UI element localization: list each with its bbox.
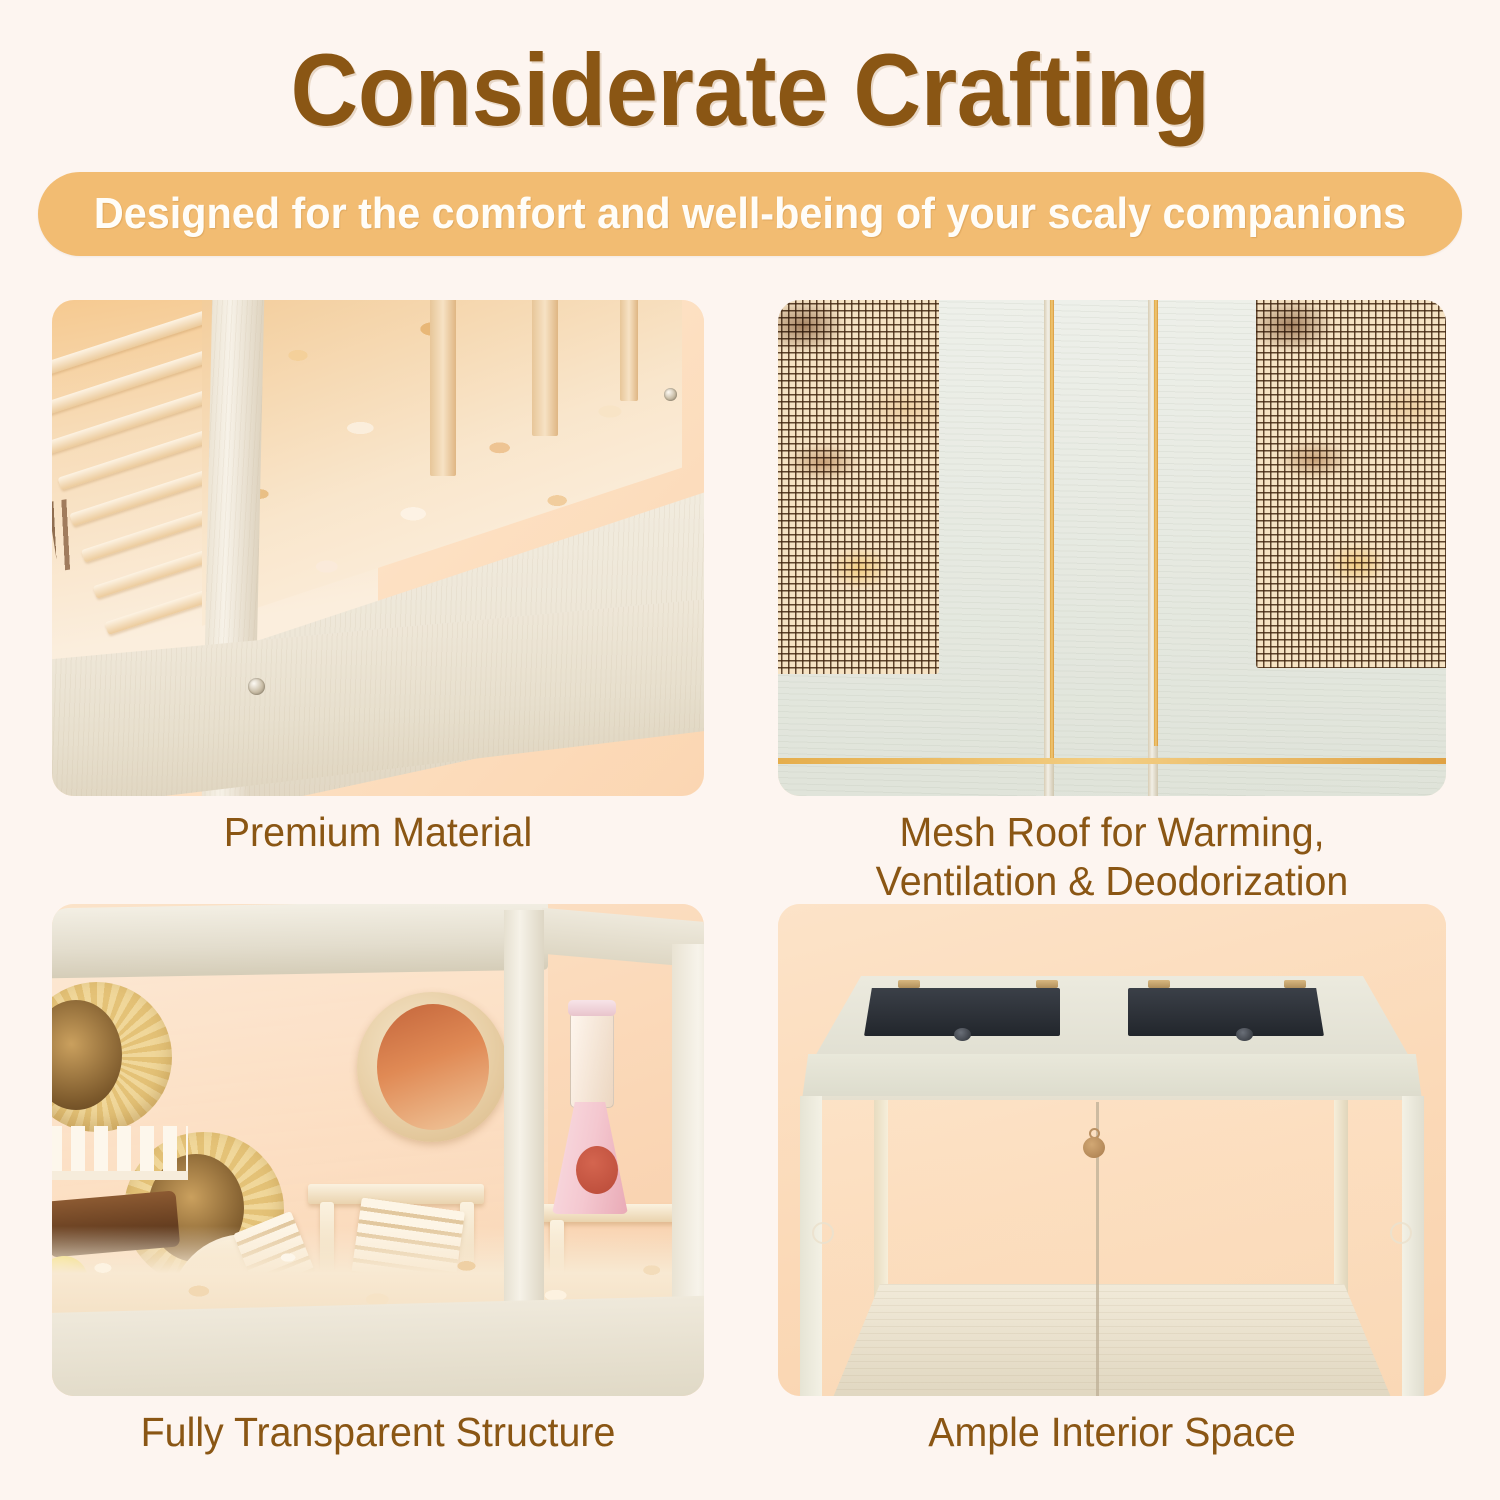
subtitle-banner: Designed for the comfort and well-being … <box>38 172 1462 256</box>
ventilation-hole-icon <box>1390 1222 1412 1244</box>
roof-hinge <box>1036 980 1058 988</box>
roof-latch-knob <box>954 1028 971 1041</box>
gold-edge-strip <box>1050 300 1054 758</box>
elevated-platform-center <box>308 1184 484 1204</box>
water-bottle-cap <box>568 1000 616 1016</box>
latch-pad <box>1083 1137 1105 1158</box>
water-bottle-tube <box>570 1012 614 1108</box>
photo-premium-material <box>52 300 704 796</box>
wood-grain-texture <box>822 1284 1402 1396</box>
photo-transparent-structure <box>52 904 704 1396</box>
feature-card-mesh-roof <box>778 300 1446 796</box>
caption-premium-material: Premium Material <box>65 808 691 857</box>
interior-floor-board <box>822 1284 1402 1396</box>
mesh-screen-panel-left <box>778 300 939 674</box>
wheel-inner-surface <box>377 1004 489 1130</box>
water-bottle-accent <box>576 1146 618 1194</box>
gold-bottom-strip <box>778 758 1446 764</box>
corner-post <box>504 910 544 1350</box>
right-side-post <box>1402 1096 1424 1396</box>
mesh-screen-panel-right <box>1256 300 1446 668</box>
screw-icon <box>248 678 265 695</box>
photo-ample-interior-space <box>778 904 1446 1396</box>
top-frame-rail <box>52 904 548 978</box>
caption-line-1: Mesh Roof for Warming, <box>782 808 1442 857</box>
door-latch-icon <box>1082 1128 1106 1158</box>
roof-hinge <box>1148 980 1170 988</box>
support-post-2 <box>532 300 558 436</box>
left-side-post <box>800 1096 822 1396</box>
support-post-1 <box>430 300 456 476</box>
upper-frame-rail <box>802 1054 1422 1100</box>
feature-card-transparent-structure <box>52 904 704 1396</box>
page-title: Considerate Crafting <box>60 34 1440 146</box>
wooden-fence-divider <box>52 1126 188 1180</box>
support-post-3 <box>620 300 638 401</box>
mesh-roof-panel-right <box>1128 988 1324 1036</box>
roof-hinge <box>1284 980 1306 988</box>
cage-floor-board <box>52 1295 704 1396</box>
caption-line-2: Ventilation & Deodorization <box>782 857 1442 906</box>
roof-latch-knob <box>1236 1028 1253 1041</box>
gold-edge-strip <box>1154 300 1158 746</box>
photo-mesh-roof <box>778 300 1446 796</box>
subtitle-text: Designed for the comfort and well-being … <box>94 189 1406 239</box>
roof-hinge <box>898 980 920 988</box>
feature-card-premium-material <box>52 300 704 796</box>
screw-icon <box>664 388 677 401</box>
ventilation-hole-icon <box>812 1222 834 1244</box>
caption-ample-interior-space: Ample Interior Space <box>791 1408 1432 1457</box>
caption-transparent-structure: Fully Transparent Structure <box>55 1408 700 1457</box>
exercise-wheel <box>357 992 507 1142</box>
caption-mesh-roof: Mesh Roof for Warming, Ventilation & Deo… <box>782 808 1442 906</box>
feature-card-ample-interior-space <box>778 904 1446 1396</box>
